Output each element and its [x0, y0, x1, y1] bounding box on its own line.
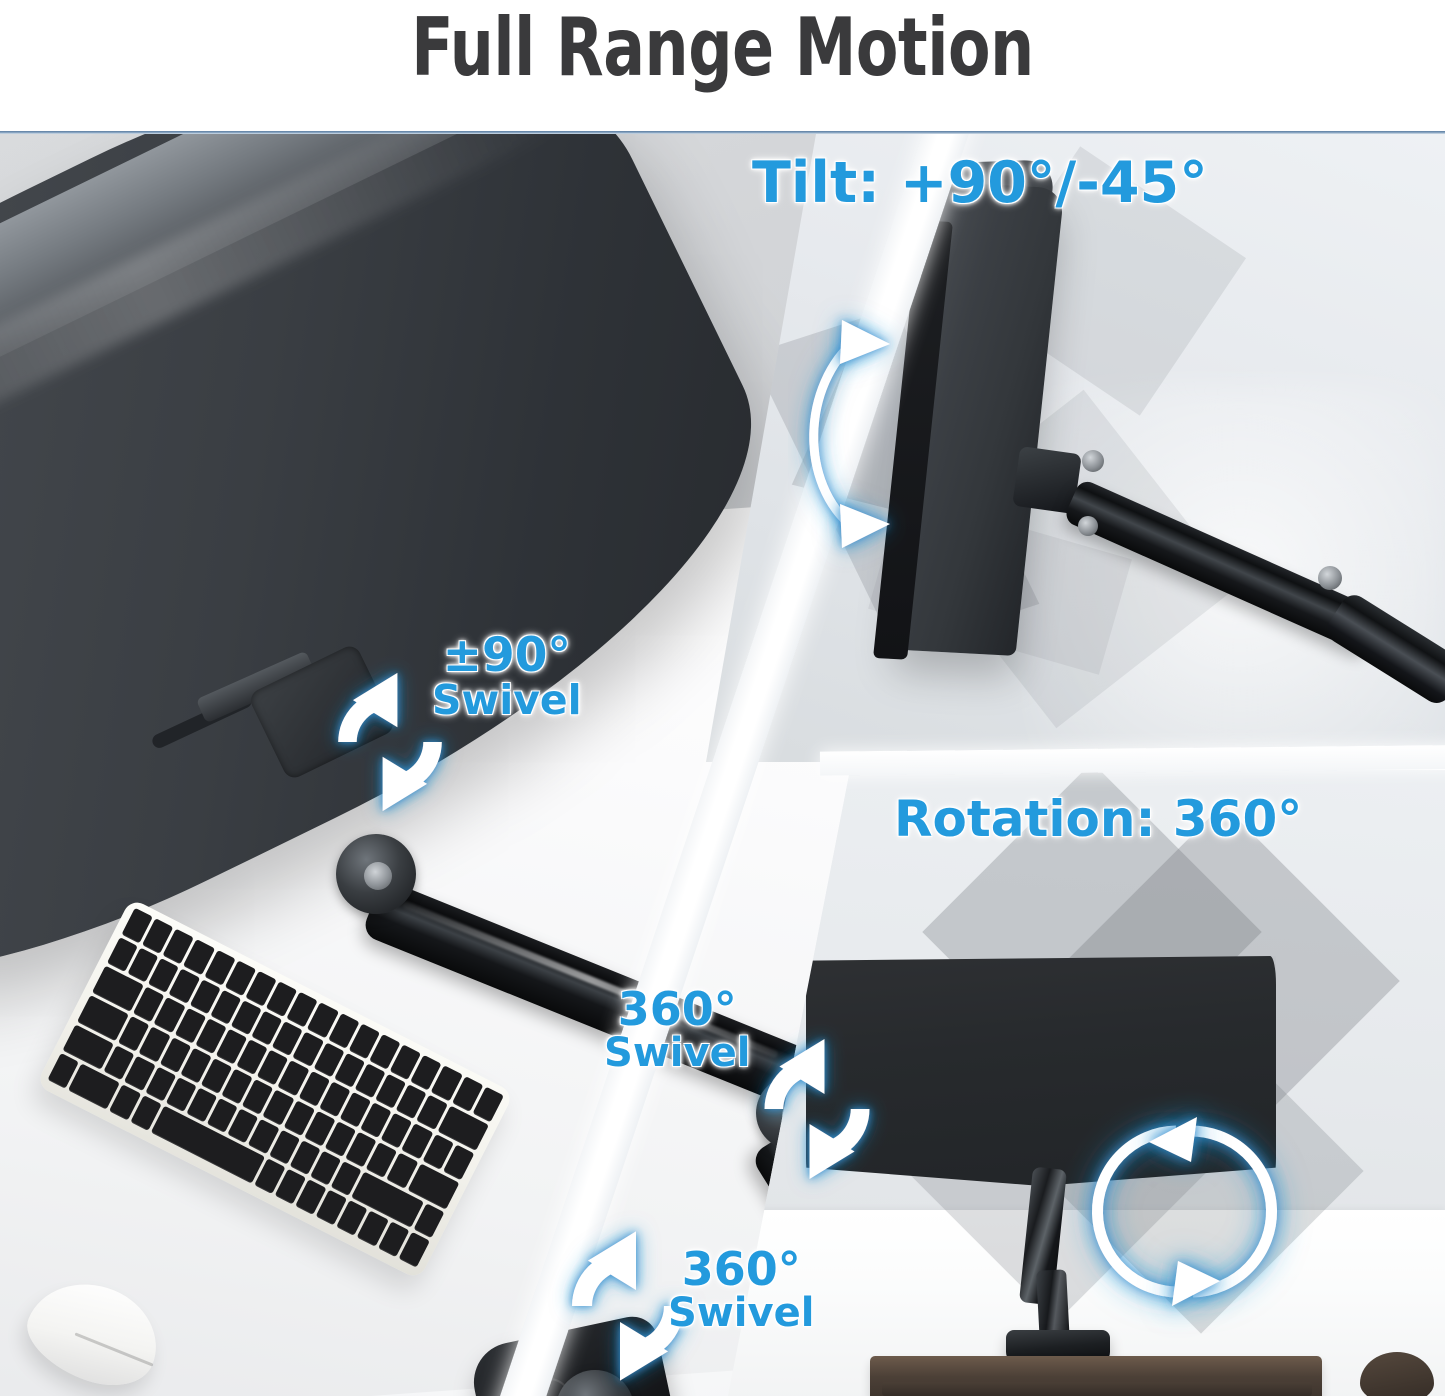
tilt-label: Tilt: +90°/-45°	[752, 154, 1208, 212]
swivel-label-monitor-head: ±90° Swivel	[432, 632, 582, 722]
circular-rotation-arrows-icon	[1077, 1104, 1292, 1319]
image-canvas: Tilt: +90°/-45° Rotation: 360° ±90° Swiv…	[0, 134, 1445, 1396]
swivel-unit: Swivel	[432, 680, 582, 722]
tilt-pivot-screw	[1078, 516, 1098, 536]
keyboard-lower-row	[882, 1382, 1312, 1396]
swivel-label-base: 360° Swivel	[668, 1246, 814, 1334]
swivel-unit: Swivel	[604, 1033, 750, 1074]
page-title: Full Range Motion	[101, 0, 1344, 100]
swivel-label-elbow: 360° Swivel	[604, 986, 750, 1074]
title-divider	[0, 131, 1445, 134]
rotation-label: Rotation: 360°	[894, 794, 1302, 845]
monitor-head-joint-screw	[364, 862, 392, 890]
swivel-value: 360°	[682, 1242, 801, 1296]
swivel-value: 360°	[618, 982, 737, 1036]
swivel-unit: Swivel	[668, 1293, 814, 1334]
product-infographic: Full Range Motion	[0, 0, 1445, 1396]
swivel-value: ±90°	[443, 628, 571, 683]
tilt-pivot-screw	[1082, 450, 1104, 472]
circular-double-arrow-icon	[742, 1034, 892, 1184]
title-band: Full Range Motion	[0, 0, 1445, 133]
curved-double-arrow-icon	[786, 314, 916, 554]
arm-elbow-screw	[1318, 566, 1342, 590]
